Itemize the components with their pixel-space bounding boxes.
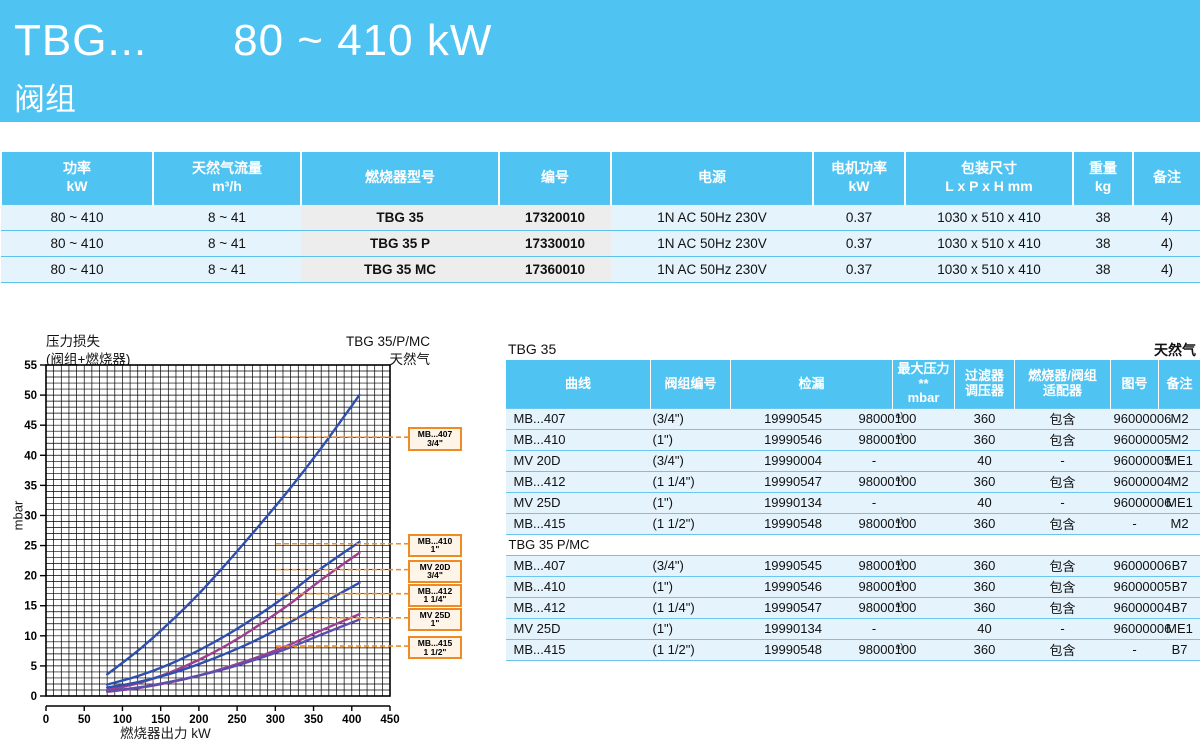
cell-size: (3/4") bbox=[651, 555, 731, 576]
svg-text:450: 450 bbox=[380, 714, 399, 726]
chart-plot-area: 0510152025303540455055050100150200250300… bbox=[0, 330, 470, 730]
svg-text:45: 45 bbox=[24, 420, 37, 432]
chart-callout: MB...4101" bbox=[408, 534, 462, 557]
cell-curve: MV 20D bbox=[506, 450, 651, 471]
cell-curve: MB...415 bbox=[506, 513, 651, 534]
cell-leak-detect: 98000100 bbox=[856, 597, 893, 618]
callout-size: 1 1/4" bbox=[412, 595, 458, 604]
table-row: 80 ~ 4108 ~ 41TBG 35 MC173600101N AC 50H… bbox=[1, 256, 1200, 282]
cell-adapter: 96000006 bbox=[1111, 492, 1159, 513]
table-row: 80 ~ 4108 ~ 41TBG 35 P173300101N AC 50Hz… bbox=[1, 230, 1200, 256]
svg-text:300: 300 bbox=[266, 714, 285, 726]
cell-code: 17330010 bbox=[499, 230, 611, 256]
cell-valve-no: 19990548 bbox=[731, 639, 856, 660]
cell-leak-detect: 98000100 bbox=[856, 555, 893, 576]
power-range-title: 80 ~ 410 kW bbox=[233, 16, 492, 66]
cell-max-pressure: 360 bbox=[955, 576, 1015, 597]
cell-packing-dims: 1030 x 510 x 410 bbox=[905, 204, 1073, 230]
svg-text:250: 250 bbox=[228, 714, 247, 726]
table-row: MB...407(3/4")1999054598000100a)360包含960… bbox=[506, 555, 1200, 576]
cell-valve-no: 19990545 bbox=[731, 408, 856, 429]
cell-max-pressure: 360 bbox=[955, 639, 1015, 660]
cell-leak-detect: 98000100 bbox=[856, 471, 893, 492]
cell-valve-no: 19990546 bbox=[731, 576, 856, 597]
right-table-caption-gas: 天然气 bbox=[1154, 340, 1200, 360]
col-header-weight: 重量kg bbox=[1073, 152, 1133, 204]
col-header-leak-detect: 检漏 bbox=[731, 360, 893, 408]
table-row: MB...415(1 1/2")1999054898000100a)360包含-… bbox=[506, 639, 1200, 660]
cell-size: (1 1/4") bbox=[651, 597, 731, 618]
cell-weight: 38 bbox=[1073, 230, 1133, 256]
cell-max-pressure: 360 bbox=[955, 408, 1015, 429]
table-row: MB...410(1")1999054698000100a)360包含96000… bbox=[506, 429, 1200, 450]
cell-valve-no: 19990134 bbox=[731, 618, 856, 639]
header-title-row: TBG... 80 ~ 410 kW bbox=[14, 16, 492, 66]
col-header-filter-regulator: 过滤器调压器 bbox=[955, 360, 1015, 408]
svg-text:150: 150 bbox=[151, 714, 170, 726]
cell-filter-regulator: 包含 bbox=[1015, 513, 1111, 534]
cell-max-pressure: 40 bbox=[955, 492, 1015, 513]
chart-callout: MB...4151 1/2" bbox=[408, 636, 462, 659]
cell-adapter: 96000006 bbox=[1111, 618, 1159, 639]
cell-code: 17320010 bbox=[499, 204, 611, 230]
cell-size: (1") bbox=[651, 492, 731, 513]
cell-weight: 38 bbox=[1073, 204, 1133, 230]
cell-size: (1 1/2") bbox=[651, 639, 731, 660]
cell-leak-detect: 98000100 bbox=[856, 429, 893, 450]
cell-max-pressure: 360 bbox=[955, 429, 1015, 450]
col-header-power-supply: 电源 bbox=[611, 152, 813, 204]
svg-text:50: 50 bbox=[78, 714, 91, 726]
table-row: MB...412(1 1/4")1999054798000100a)360包含9… bbox=[506, 597, 1200, 618]
cell-leak-superscript: a) bbox=[893, 471, 955, 492]
cell-adapter: 96000004 bbox=[1111, 597, 1159, 618]
table-row: MV 25D(1")19990134-40-96000006ME1LPG bbox=[506, 618, 1200, 639]
svg-text:0: 0 bbox=[31, 691, 37, 703]
cell-filter-regulator: 包含 bbox=[1015, 471, 1111, 492]
cell-size: (1 1/2") bbox=[651, 513, 731, 534]
cell-power-supply: 1N AC 50Hz 230V bbox=[611, 230, 813, 256]
section-label-row: TBG 35 P/MC bbox=[506, 534, 1200, 555]
cell-remarks: 4) bbox=[1133, 256, 1200, 282]
cell-filter-regulator: 包含 bbox=[1015, 576, 1111, 597]
cell-motor-power: 0.37 bbox=[813, 256, 905, 282]
svg-text:10: 10 bbox=[24, 631, 37, 643]
svg-text:55: 55 bbox=[24, 360, 37, 372]
cell-leak-detect: 98000100 bbox=[856, 408, 893, 429]
valve-header-row: 曲线 阀组编号 检漏 最大压力**mbar 过滤器调压器 燃烧器/阀组适配器 图… bbox=[506, 360, 1200, 408]
table-row: MV 20D(3/4")19990004-40-96000005ME1LPG bbox=[506, 450, 1200, 471]
cell-leak-detect: - bbox=[856, 618, 893, 639]
cell-valve-no: 19990548 bbox=[731, 513, 856, 534]
cell-leak-detect: - bbox=[856, 492, 893, 513]
cell-power: 80 ~ 410 bbox=[1, 230, 153, 256]
pressure-loss-chart: 压力损失(阀组+燃烧器) TBG 35/P/MC天然气 mbar 燃烧器出力 k… bbox=[0, 330, 470, 745]
cell-curve: MB...415 bbox=[506, 639, 651, 660]
cell-packing-dims: 1030 x 510 x 410 bbox=[905, 256, 1073, 282]
cell-leak-superscript: a) bbox=[893, 639, 955, 660]
cell-filter-regulator: - bbox=[1015, 450, 1111, 471]
svg-text:20: 20 bbox=[24, 571, 37, 583]
cell-power-supply: 1N AC 50Hz 230V bbox=[611, 204, 813, 230]
cell-power: 80 ~ 410 bbox=[1, 204, 153, 230]
cell-adapter: 96000005 bbox=[1111, 576, 1159, 597]
chart-y-axis: 0510152025303540455055 bbox=[24, 360, 46, 703]
svg-text:400: 400 bbox=[342, 714, 361, 726]
callout-size: 1" bbox=[412, 545, 458, 554]
svg-text:25: 25 bbox=[24, 541, 37, 553]
cell-max-pressure: 360 bbox=[955, 555, 1015, 576]
cell-filter-regulator: 包含 bbox=[1015, 555, 1111, 576]
col-header-max-pressure: 最大压力**mbar bbox=[893, 360, 955, 408]
svg-text:350: 350 bbox=[304, 714, 323, 726]
cell-size: (1") bbox=[651, 576, 731, 597]
cell-curve: MB...407 bbox=[506, 408, 651, 429]
cell-adapter: 96000004 bbox=[1111, 471, 1159, 492]
cell-curve: MB...407 bbox=[506, 555, 651, 576]
cell-valve-no: 19990547 bbox=[731, 471, 856, 492]
cell-burner-model: TBG 35 P bbox=[301, 230, 499, 256]
cell-leak-superscript bbox=[893, 492, 955, 513]
cell-remarks: 4) bbox=[1133, 230, 1200, 256]
cell-leak-superscript: a) bbox=[893, 555, 955, 576]
table-row: MB...412(1 1/4")1999054798000100a)360包含9… bbox=[506, 471, 1200, 492]
cell-power: 80 ~ 410 bbox=[1, 256, 153, 282]
cell-packing-dims: 1030 x 510 x 410 bbox=[905, 230, 1073, 256]
cell-size: (3/4") bbox=[651, 408, 731, 429]
callout-size: 1" bbox=[412, 619, 458, 628]
cell-filter-regulator: 包含 bbox=[1015, 429, 1111, 450]
cell-max-pressure: 360 bbox=[955, 513, 1015, 534]
cell-valve-no: 19990134 bbox=[731, 492, 856, 513]
chart-callout: MV 20D3/4" bbox=[408, 560, 462, 583]
cell-leak-superscript: a) bbox=[893, 408, 955, 429]
cell-adapter: 96000005 bbox=[1111, 450, 1159, 471]
cell-leak-superscript bbox=[893, 618, 955, 639]
cell-leak-superscript: a) bbox=[893, 576, 955, 597]
svg-text:5: 5 bbox=[31, 661, 38, 673]
right-table-caption-row: TBG 35 天然气 bbox=[505, 340, 1200, 360]
svg-text:50: 50 bbox=[24, 390, 37, 402]
cell-leak-detect: 98000100 bbox=[856, 513, 893, 534]
page-header: TBG... 80 ~ 410 kW 阀组 bbox=[0, 0, 1200, 122]
cell-gas-flow: 8 ~ 41 bbox=[153, 256, 301, 282]
cell-adapter: - bbox=[1111, 639, 1159, 660]
cell-valve-no: 19990004 bbox=[731, 450, 856, 471]
table-row: MB...407(3/4")1999054598000100a)360包含960… bbox=[506, 408, 1200, 429]
chart-callout: MB...4073/4" bbox=[408, 427, 462, 450]
col-header-remarks: 备注 bbox=[1133, 152, 1200, 204]
table-row: 80 ~ 4108 ~ 41TBG 35173200101N AC 50Hz 2… bbox=[1, 204, 1200, 230]
cell-valve-no: 19990547 bbox=[731, 597, 856, 618]
cell-filter-regulator: - bbox=[1015, 492, 1111, 513]
col-header-valve-no: 阀组编号 bbox=[651, 360, 731, 408]
svg-text:15: 15 bbox=[24, 601, 37, 613]
spec-header-row: 功率kW 天然气流量m³/h 燃烧器型号 编号 电源 电机功率kW 包装尺寸L … bbox=[1, 152, 1200, 204]
cell-filter-regulator: 包含 bbox=[1015, 639, 1111, 660]
cell-drawing-no: M2 bbox=[1159, 513, 1200, 534]
product-title: TBG... bbox=[14, 16, 147, 66]
cell-curve: MB...410 bbox=[506, 576, 651, 597]
col-header-gas-flow: 天然气流量m³/h bbox=[153, 152, 301, 204]
cell-filter-regulator: 包含 bbox=[1015, 597, 1111, 618]
svg-text:0: 0 bbox=[43, 714, 49, 726]
callout-size: 1 1/2" bbox=[412, 648, 458, 657]
cell-leak-superscript bbox=[893, 450, 955, 471]
cell-max-pressure: 360 bbox=[955, 471, 1015, 492]
cell-filter-regulator: - bbox=[1015, 618, 1111, 639]
section-label: TBG 35 P/MC bbox=[506, 534, 1200, 555]
table-row: MB...415(1 1/2")1999054898000100a)360包含-… bbox=[506, 513, 1200, 534]
svg-text:35: 35 bbox=[24, 480, 37, 492]
cell-drawing-no: B7 bbox=[1159, 639, 1200, 660]
cell-adapter: 96000006 bbox=[1111, 555, 1159, 576]
col-header-drawing-no: 图号 bbox=[1111, 360, 1159, 408]
cell-leak-superscript: a) bbox=[893, 429, 955, 450]
cell-gas-flow: 8 ~ 41 bbox=[153, 230, 301, 256]
cell-valve-no: 19990545 bbox=[731, 555, 856, 576]
cell-max-pressure: 40 bbox=[955, 618, 1015, 639]
table-row: MB...410(1")1999054698000100a)360包含96000… bbox=[506, 576, 1200, 597]
cell-size: (1") bbox=[651, 429, 731, 450]
chart-x-axis: 050100150200250300350400450 bbox=[43, 706, 400, 726]
cell-max-pressure: 40 bbox=[955, 450, 1015, 471]
cell-curve: MV 25D bbox=[506, 618, 651, 639]
callout-size: 3/4" bbox=[412, 439, 458, 448]
cell-code: 17360010 bbox=[499, 256, 611, 282]
col-header-code: 编号 bbox=[499, 152, 611, 204]
cell-adapter: - bbox=[1111, 513, 1159, 534]
col-header-curve: 曲线 bbox=[506, 360, 651, 408]
cell-burner-model: TBG 35 bbox=[301, 204, 499, 230]
svg-text:30: 30 bbox=[24, 510, 37, 522]
header-subtitle: 阀组 bbox=[14, 74, 76, 119]
cell-motor-power: 0.37 bbox=[813, 230, 905, 256]
col-header-packing-dims: 包装尺寸L x P x H mm bbox=[905, 152, 1073, 204]
cell-size: (3/4") bbox=[651, 450, 731, 471]
chart-callout: MB...4121 1/4" bbox=[408, 584, 462, 607]
cell-power-supply: 1N AC 50Hz 230V bbox=[611, 256, 813, 282]
right-table-caption: TBG 35 bbox=[505, 340, 556, 360]
cell-size: (1") bbox=[651, 618, 731, 639]
cell-motor-power: 0.37 bbox=[813, 204, 905, 230]
cell-burner-model: TBG 35 MC bbox=[301, 256, 499, 282]
specifications-table: 功率kW 天然气流量m³/h 燃烧器型号 编号 电源 电机功率kW 包装尺寸L … bbox=[0, 152, 1200, 283]
col-header-adapter: 燃烧器/阀组适配器 bbox=[1015, 360, 1111, 408]
svg-text:200: 200 bbox=[189, 714, 208, 726]
callout-size: 3/4" bbox=[412, 571, 458, 580]
cell-leak-superscript: a) bbox=[893, 597, 955, 618]
cell-leak-superscript: a) bbox=[893, 513, 955, 534]
cell-remarks: 4) bbox=[1133, 204, 1200, 230]
cell-curve: MV 25D bbox=[506, 492, 651, 513]
col-header-motor-power: 电机功率kW bbox=[813, 152, 905, 204]
cell-adapter: 96000006 bbox=[1111, 408, 1159, 429]
cell-leak-detect: 98000100 bbox=[856, 576, 893, 597]
chart-callout: MV 25D1" bbox=[408, 608, 462, 631]
cell-size: (1 1/4") bbox=[651, 471, 731, 492]
cell-curve: MB...412 bbox=[506, 597, 651, 618]
cell-curve: MB...412 bbox=[506, 471, 651, 492]
table-row: MV 25D(1")19990134-40-96000006ME1 bbox=[506, 492, 1200, 513]
cell-adapter: 96000005 bbox=[1111, 429, 1159, 450]
col-header-power: 功率kW bbox=[1, 152, 153, 204]
cell-max-pressure: 360 bbox=[955, 597, 1015, 618]
svg-text:40: 40 bbox=[24, 450, 37, 462]
cell-filter-regulator: 包含 bbox=[1015, 408, 1111, 429]
cell-leak-detect: 98000100 bbox=[856, 639, 893, 660]
chart-background bbox=[46, 365, 390, 696]
valve-group-table: 曲线 阀组编号 检漏 最大压力**mbar 过滤器调压器 燃烧器/阀组适配器 图… bbox=[505, 360, 1200, 661]
cell-gas-flow: 8 ~ 41 bbox=[153, 204, 301, 230]
svg-text:100: 100 bbox=[113, 714, 132, 726]
cell-weight: 38 bbox=[1073, 256, 1133, 282]
cell-valve-no: 19990546 bbox=[731, 429, 856, 450]
valve-group-table-block: TBG 35 天然气 曲线 阀组编号 检漏 最大压力**mbar 过滤器调压器 … bbox=[505, 340, 1200, 661]
cell-leak-detect: - bbox=[856, 450, 893, 471]
cell-curve: MB...410 bbox=[506, 429, 651, 450]
col-header-burner-model: 燃烧器型号 bbox=[301, 152, 499, 204]
col-header-note: 备注 bbox=[1159, 360, 1200, 408]
